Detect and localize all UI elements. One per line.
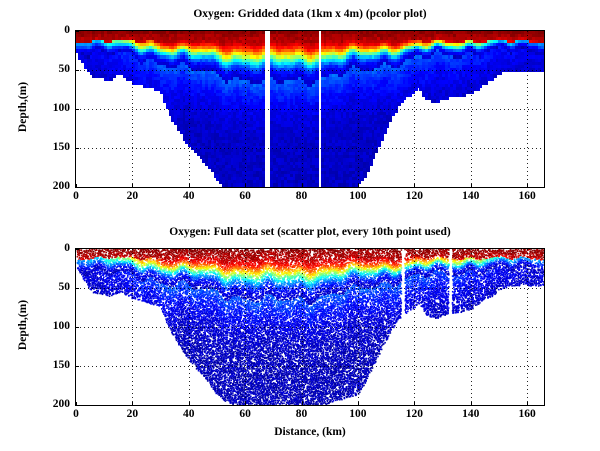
y-axis-label-gridded: Depth,(m) — [17, 57, 29, 157]
y-tick-mark — [75, 366, 79, 367]
y-tick-label: 50 — [35, 281, 70, 293]
axes-scatter — [75, 248, 545, 406]
y-axis-label-scatter: Depth,(m) — [17, 275, 29, 375]
x-tick-mark — [189, 402, 190, 406]
axes-gridded — [75, 30, 545, 188]
x-tick-label: 100 — [338, 408, 378, 420]
x-tick-label: 100 — [338, 190, 378, 202]
scatter-canvas — [76, 249, 544, 405]
y-tick-mark — [75, 31, 79, 32]
x-tick-label: 120 — [394, 190, 434, 202]
x-tick-label: 40 — [169, 190, 209, 202]
x-tick-label: 80 — [282, 408, 322, 420]
x-tick-mark — [358, 402, 359, 406]
x-tick-label: 160 — [507, 408, 547, 420]
x-tick-mark — [414, 184, 415, 188]
x-tick-label: 60 — [225, 190, 265, 202]
x-tick-mark — [527, 402, 528, 406]
x-tick-mark — [132, 402, 133, 406]
x-tick-mark — [189, 184, 190, 188]
x-tick-label: 160 — [507, 190, 547, 202]
x-tick-label: 140 — [451, 408, 491, 420]
x-tick-label: 140 — [451, 190, 491, 202]
y-tick-mark — [75, 405, 79, 406]
x-axis-label-distance: Distance, (km) — [75, 426, 545, 438]
panel-title-gridded: Oxygen: Gridded data (1km x 4m) (pcolor … — [75, 8, 545, 20]
x-tick-mark — [527, 184, 528, 188]
x-tick-mark — [302, 402, 303, 406]
y-tick-mark — [75, 70, 79, 71]
y-tick-label: 100 — [35, 320, 70, 332]
x-tick-label: 20 — [112, 190, 152, 202]
x-tick-label: 60 — [225, 408, 265, 420]
y-tick-label: 200 — [35, 180, 70, 192]
y-tick-mark — [75, 249, 79, 250]
x-tick-mark — [471, 402, 472, 406]
panel-title-scatter: Oxygen: Full data set (scatter plot, eve… — [75, 226, 545, 238]
x-tick-mark — [245, 184, 246, 188]
y-tick-label: 0 — [35, 24, 70, 36]
y-tick-mark — [75, 187, 79, 188]
x-tick-mark — [245, 402, 246, 406]
y-tick-label: 150 — [35, 359, 70, 371]
oxygen-section-figure: Oxygen: Gridded data (1km x 4m) (pcolor … — [0, 0, 600, 451]
y-tick-label: 150 — [35, 141, 70, 153]
x-tick-label: 80 — [282, 190, 322, 202]
y-tick-label: 100 — [35, 102, 70, 114]
y-tick-label: 200 — [35, 398, 70, 410]
x-tick-label: 120 — [394, 408, 434, 420]
x-tick-mark — [471, 184, 472, 188]
y-tick-label: 0 — [35, 242, 70, 254]
y-tick-label: 50 — [35, 63, 70, 75]
x-tick-mark — [302, 184, 303, 188]
x-tick-mark — [132, 184, 133, 188]
x-tick-mark — [358, 184, 359, 188]
x-tick-label: 40 — [169, 408, 209, 420]
y-tick-mark — [75, 109, 79, 110]
x-tick-label: 20 — [112, 408, 152, 420]
y-tick-mark — [75, 288, 79, 289]
x-tick-mark — [414, 402, 415, 406]
y-tick-mark — [75, 327, 79, 328]
pcolor-canvas — [76, 31, 544, 187]
y-tick-mark — [75, 148, 79, 149]
